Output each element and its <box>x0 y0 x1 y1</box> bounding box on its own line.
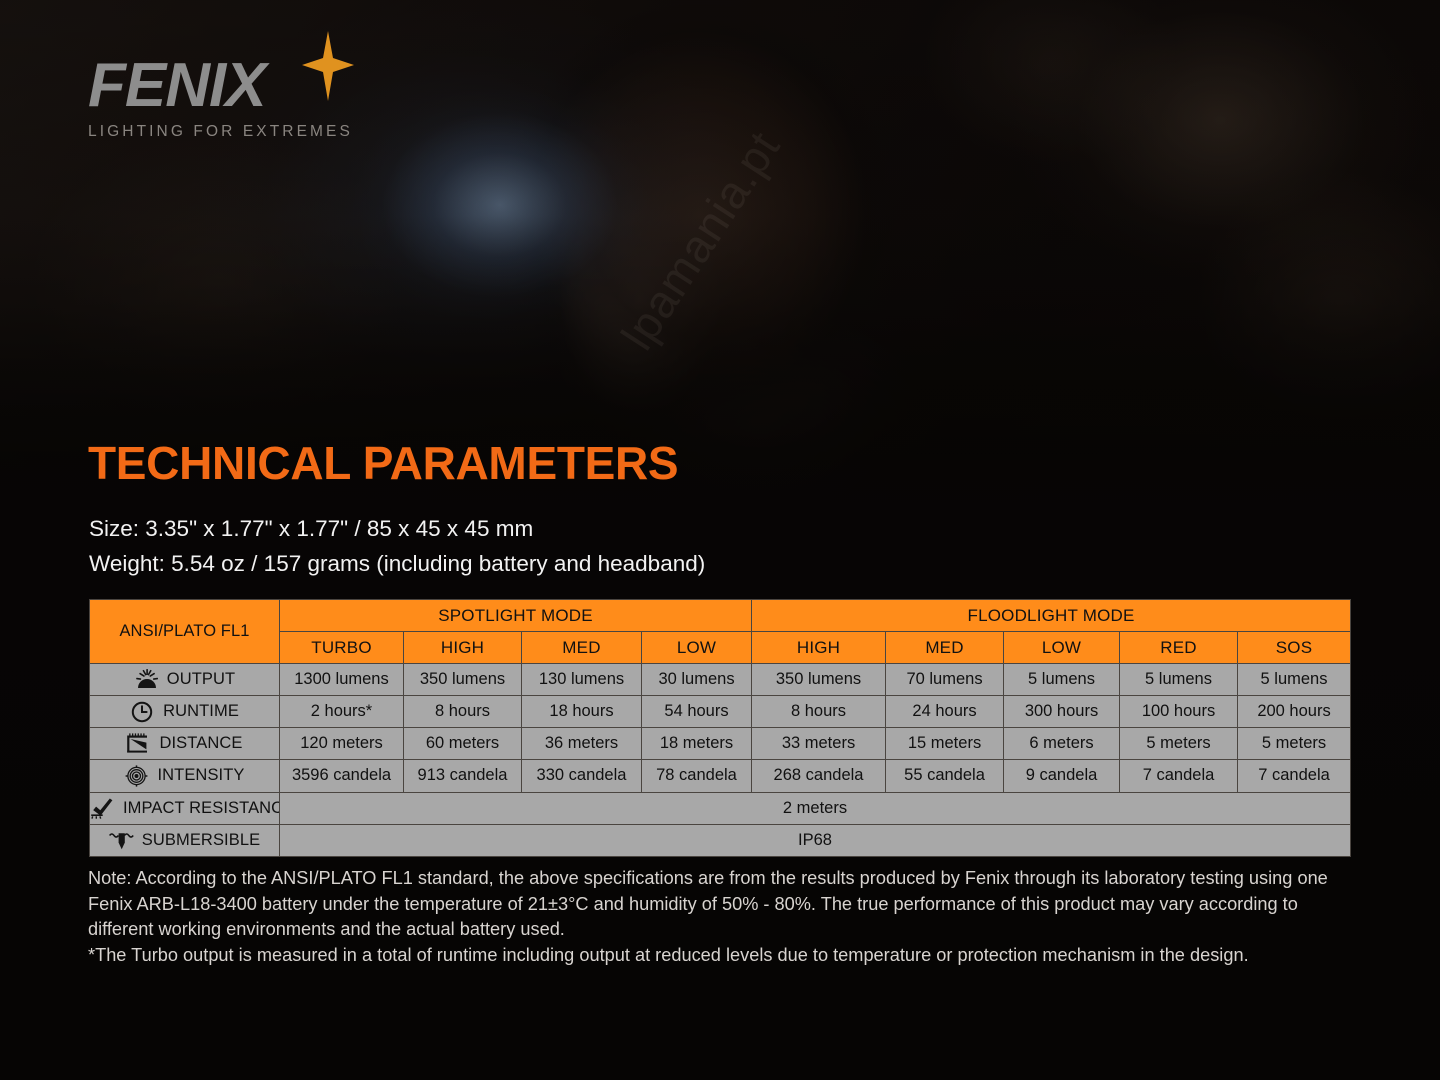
cell-runtime-flood-high: 8 hours <box>752 696 886 728</box>
sunburst-icon <box>134 669 160 691</box>
mode-header-flood-high: HIGH <box>752 632 886 664</box>
cell-output-flood-med: 70 lumens <box>886 664 1004 696</box>
fenix-logo: FENIX LIGHTING FOR EXTREMES <box>88 55 418 155</box>
cell-intensity-flood-red: 7 candela <box>1120 760 1238 792</box>
row-label-impact-resistance: IMPACT RESISTANCE <box>90 792 280 824</box>
cell-runtime-flood-med: 24 hours <box>886 696 1004 728</box>
row-label-text: DISTANCE <box>159 734 242 752</box>
cell-intensity-flood-low: 9 candela <box>1004 760 1120 792</box>
group-header-spotlight: SPOTLIGHT MODE <box>280 600 752 632</box>
cell-output-flood-high: 350 lumens <box>752 664 886 696</box>
cell-runtime-flood-red: 100 hours <box>1120 696 1238 728</box>
cell-intensity-flood-med: 55 candela <box>886 760 1004 792</box>
row-label-output: OUTPUT <box>90 664 280 696</box>
submersible-icon <box>109 829 135 851</box>
cell-output-spot-med: 130 lumens <box>522 664 642 696</box>
table-row: OUTPUT 1300 lumens 350 lumens 130 lumens… <box>90 664 1351 696</box>
table-group-header-row: ANSI/PLATO FL1 SPOTLIGHT MODE FLOODLIGHT… <box>90 600 1351 632</box>
cell-output-spot-low: 30 lumens <box>642 664 752 696</box>
table-row: IMPACT RESISTANCE 2 meters <box>90 792 1351 824</box>
mode-header-spot-low: LOW <box>642 632 752 664</box>
product-spec-slide: lpamania.pt FENIX LIGHTING FOR EXTREMES … <box>0 0 1440 1080</box>
row-label-intensity: INTENSITY <box>90 760 280 792</box>
note-standard: Note: According to the ANSI/PLATO FL1 st… <box>88 866 1346 943</box>
row-label-text: IMPACT RESISTANCE <box>123 799 280 817</box>
row-label-submersible: SUBMERSIBLE <box>90 824 280 856</box>
cell-intensity-spot-med: 330 candela <box>522 760 642 792</box>
beam-distance-icon <box>126 733 152 755</box>
mode-header-flood-med: MED <box>886 632 1004 664</box>
weight-spec: Weight: 5.54 oz / 157 grams (including b… <box>89 553 705 576</box>
cell-intensity-flood-high: 268 candela <box>752 760 886 792</box>
cell-output-spot-high: 350 lumens <box>404 664 522 696</box>
row-label-text: SUBMERSIBLE <box>142 831 260 849</box>
spark-icon <box>302 31 354 101</box>
logo-wordmark: FENIX <box>88 55 418 117</box>
logo-tagline: LIGHTING FOR EXTREMES <box>88 123 418 141</box>
page-title: TECHNICAL PARAMETERS <box>88 440 678 486</box>
cell-output-spot-turbo: 1300 lumens <box>280 664 404 696</box>
cell-runtime-spot-low: 54 hours <box>642 696 752 728</box>
row-label-text: INTENSITY <box>157 767 244 785</box>
table-row: INTENSITY 3596 candela 913 candela 330 c… <box>90 760 1351 792</box>
cell-intensity-spot-high: 913 candela <box>404 760 522 792</box>
cell-distance-flood-high: 33 meters <box>752 728 886 760</box>
cell-output-flood-red: 5 lumens <box>1120 664 1238 696</box>
row-label-text: OUTPUT <box>167 670 235 688</box>
cell-distance-spot-high: 60 meters <box>404 728 522 760</box>
mode-header-flood-low: LOW <box>1004 632 1120 664</box>
table-mode-header-row: TURBO HIGH MED LOW HIGH MED LOW RED SOS <box>90 632 1351 664</box>
cell-intensity-flood-sos: 7 candela <box>1238 760 1351 792</box>
cell-submersible-value: IP68 <box>280 824 1351 856</box>
cell-distance-spot-low: 18 meters <box>642 728 752 760</box>
note-turbo-asterisk: *The Turbo output is measured in a total… <box>88 943 1346 969</box>
cell-intensity-spot-turbo: 3596 candela <box>280 760 404 792</box>
cell-runtime-flood-sos: 200 hours <box>1238 696 1351 728</box>
cell-output-flood-low: 5 lumens <box>1004 664 1120 696</box>
mode-header-flood-red: RED <box>1120 632 1238 664</box>
table-row: DISTANCE 120 meters 60 meters 36 meters … <box>90 728 1351 760</box>
technical-parameters-table: ANSI/PLATO FL1 SPOTLIGHT MODE FLOODLIGHT… <box>89 599 1351 857</box>
cell-distance-flood-red: 5 meters <box>1120 728 1238 760</box>
cell-output-flood-sos: 5 lumens <box>1238 664 1351 696</box>
notes-block: Note: According to the ANSI/PLATO FL1 st… <box>88 866 1346 968</box>
clock-icon <box>130 701 156 723</box>
mode-header-spot-med: MED <box>522 632 642 664</box>
cell-intensity-spot-low: 78 candela <box>642 760 752 792</box>
cell-distance-flood-med: 15 meters <box>886 728 1004 760</box>
cell-runtime-spot-high: 8 hours <box>404 696 522 728</box>
mode-header-spot-turbo: TURBO <box>280 632 404 664</box>
row-label-text: RUNTIME <box>163 702 239 720</box>
mode-header-flood-sos: SOS <box>1238 632 1351 664</box>
cell-runtime-spot-turbo: 2 hours* <box>280 696 404 728</box>
impact-icon <box>90 797 116 819</box>
target-icon <box>124 765 150 787</box>
row-label-runtime: RUNTIME <box>90 696 280 728</box>
group-header-floodlight: FLOODLIGHT MODE <box>752 600 1351 632</box>
table-corner-label: ANSI/PLATO FL1 <box>90 600 280 664</box>
table-row: SUBMERSIBLE IP68 <box>90 824 1351 856</box>
cell-distance-flood-sos: 5 meters <box>1238 728 1351 760</box>
cell-distance-spot-turbo: 120 meters <box>280 728 404 760</box>
cell-distance-flood-low: 6 meters <box>1004 728 1120 760</box>
cell-distance-spot-med: 36 meters <box>522 728 642 760</box>
row-label-distance: DISTANCE <box>90 728 280 760</box>
cell-runtime-flood-low: 300 hours <box>1004 696 1120 728</box>
size-spec: Size: 3.35" x 1.77" x 1.77" / 85 x 45 x … <box>89 518 533 541</box>
table-row: RUNTIME 2 hours* 8 hours 18 hours 54 hou… <box>90 696 1351 728</box>
mode-header-spot-high: HIGH <box>404 632 522 664</box>
cell-runtime-spot-med: 18 hours <box>522 696 642 728</box>
cell-impact-resistance-value: 2 meters <box>280 792 1351 824</box>
